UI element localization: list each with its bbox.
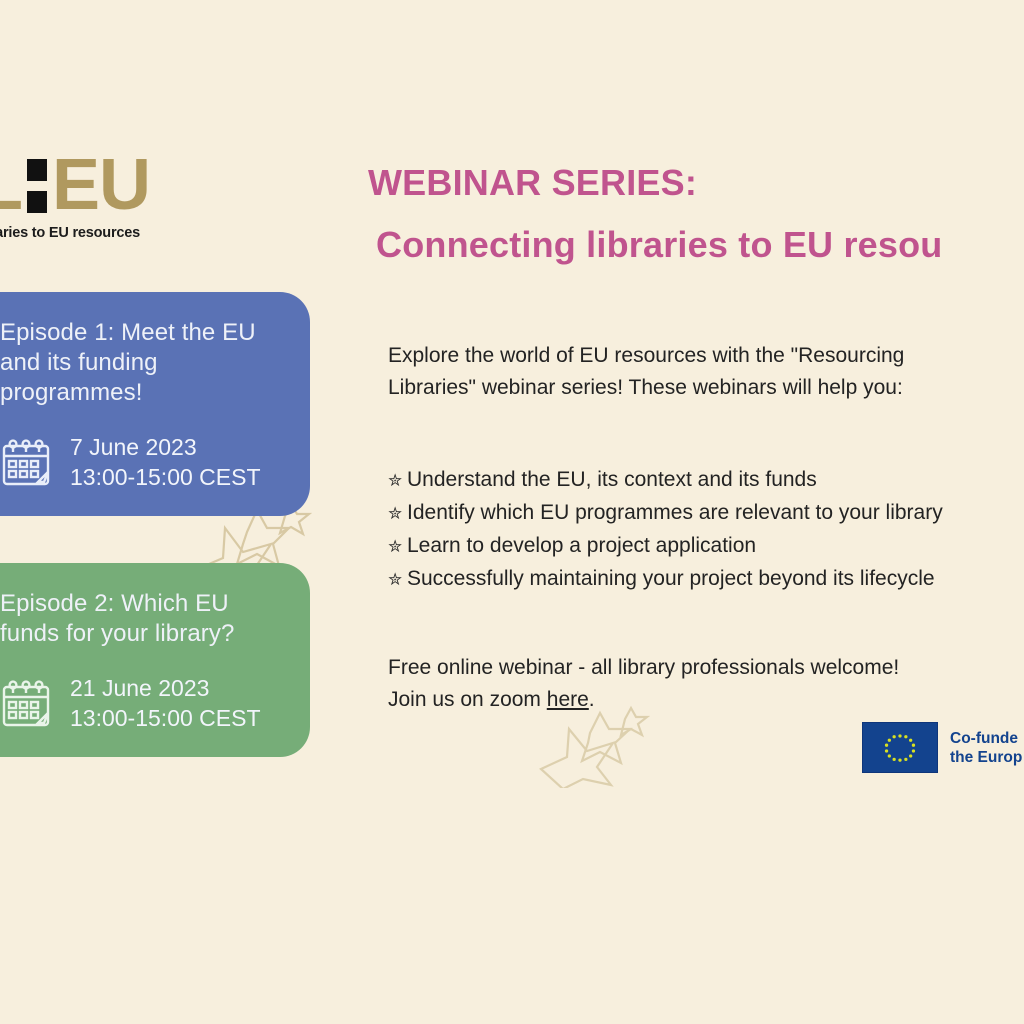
- headline-line-2: Connecting libraries to EU resou: [368, 214, 1024, 276]
- episode-1-time: 13:00-15:00 CEST: [70, 464, 261, 490]
- zoom-link[interactable]: here: [547, 688, 589, 711]
- benefits-list: ✮Understand the EU, its context and its …: [388, 464, 1024, 596]
- eu-badge-text: Co-funde the Europ: [950, 729, 1022, 767]
- closing-line-2: Join us on zoom here.: [388, 684, 1024, 716]
- list-item-label: Successfully maintaining your project be…: [407, 567, 935, 590]
- star-bullet-icon: ✮: [388, 564, 407, 596]
- list-item: ✮Successfully maintaining your project b…: [388, 563, 1024, 596]
- logo-colon-icon: [24, 155, 50, 219]
- episode-1-date: 7 June 2023: [70, 434, 197, 460]
- eu-flag-icon: [862, 722, 938, 773]
- episode-2-date: 21 June 2023: [70, 675, 209, 701]
- episode-card-2[interactable]: Episode 2: Which EU funds for your libra…: [0, 563, 310, 757]
- episode-2-time: 13:00-15:00 CEST: [70, 705, 261, 731]
- join-suffix-label: .: [589, 688, 595, 711]
- logo-wordmark-suffix: EU: [52, 145, 150, 225]
- episode-1-title: Episode 1: Meet the EU and its funding p…: [0, 318, 268, 408]
- page-title: WEBINAR SERIES: Connecting libraries to …: [368, 152, 1024, 276]
- eu-cofunded-badge: Co-funde the Europ: [862, 722, 1022, 773]
- list-item: ✮Learn to develop a project application: [388, 530, 1024, 563]
- calendar-icon: [0, 677, 52, 729]
- list-item: ✮Understand the EU, its context and its …: [388, 464, 1024, 497]
- join-prefix-label: Join us on zoom: [388, 688, 547, 711]
- headline-line-1: WEBINAR SERIES:: [368, 152, 1024, 214]
- episode-2-title: Episode 2: Which EU funds for your libra…: [0, 589, 268, 649]
- closing-block: Free online webinar - all library profes…: [388, 652, 1024, 716]
- eu-badge-line-1: Co-funde: [950, 730, 1018, 747]
- intro-line-2: Libraries" webinar series! These webinar…: [388, 372, 1024, 404]
- star-bullet-icon: ✮: [388, 465, 407, 497]
- logo-wordmark-prefix: RL: [0, 145, 22, 225]
- list-item-label: Learn to develop a project application: [407, 534, 756, 557]
- episode-card-1[interactable]: Episode 1: Meet the EU and its funding p…: [0, 292, 310, 516]
- logo-tagline: ecting libraries to EU resources: [0, 225, 228, 241]
- list-item-label: Identify which EU programmes are relevan…: [407, 501, 943, 524]
- intro-line-1: Explore the world of EU resources with t…: [388, 340, 1024, 372]
- episode-1-datetime: 7 June 2023 13:00-15:00 CEST: [70, 432, 261, 492]
- closing-line-1: Free online webinar - all library profes…: [388, 652, 1024, 684]
- episode-2-datetime: 21 June 2023 13:00-15:00 CEST: [70, 673, 261, 733]
- star-bullet-icon: ✮: [388, 498, 407, 530]
- star-bullet-icon: ✮: [388, 531, 407, 563]
- description-block: Explore the world of EU resources with t…: [388, 340, 1024, 716]
- calendar-icon: [0, 436, 52, 488]
- episode-2-schedule: 21 June 2023 13:00-15:00 CEST: [0, 673, 280, 733]
- resourcing-libraries-logo: RLEU ecting libraries to EU resources: [0, 148, 228, 248]
- eu-badge-line-2: the Europ: [950, 749, 1022, 766]
- webinar-promo-poster: RLEU ecting libraries to EU resources Ep…: [0, 0, 1024, 1024]
- list-item: ✮Identify which EU programmes are releva…: [388, 497, 1024, 530]
- episode-1-schedule: 7 June 2023 13:00-15:00 CEST: [0, 432, 280, 492]
- list-item-label: Understand the EU, its context and its f…: [407, 468, 817, 491]
- logo-wordmark: RLEU: [0, 148, 228, 222]
